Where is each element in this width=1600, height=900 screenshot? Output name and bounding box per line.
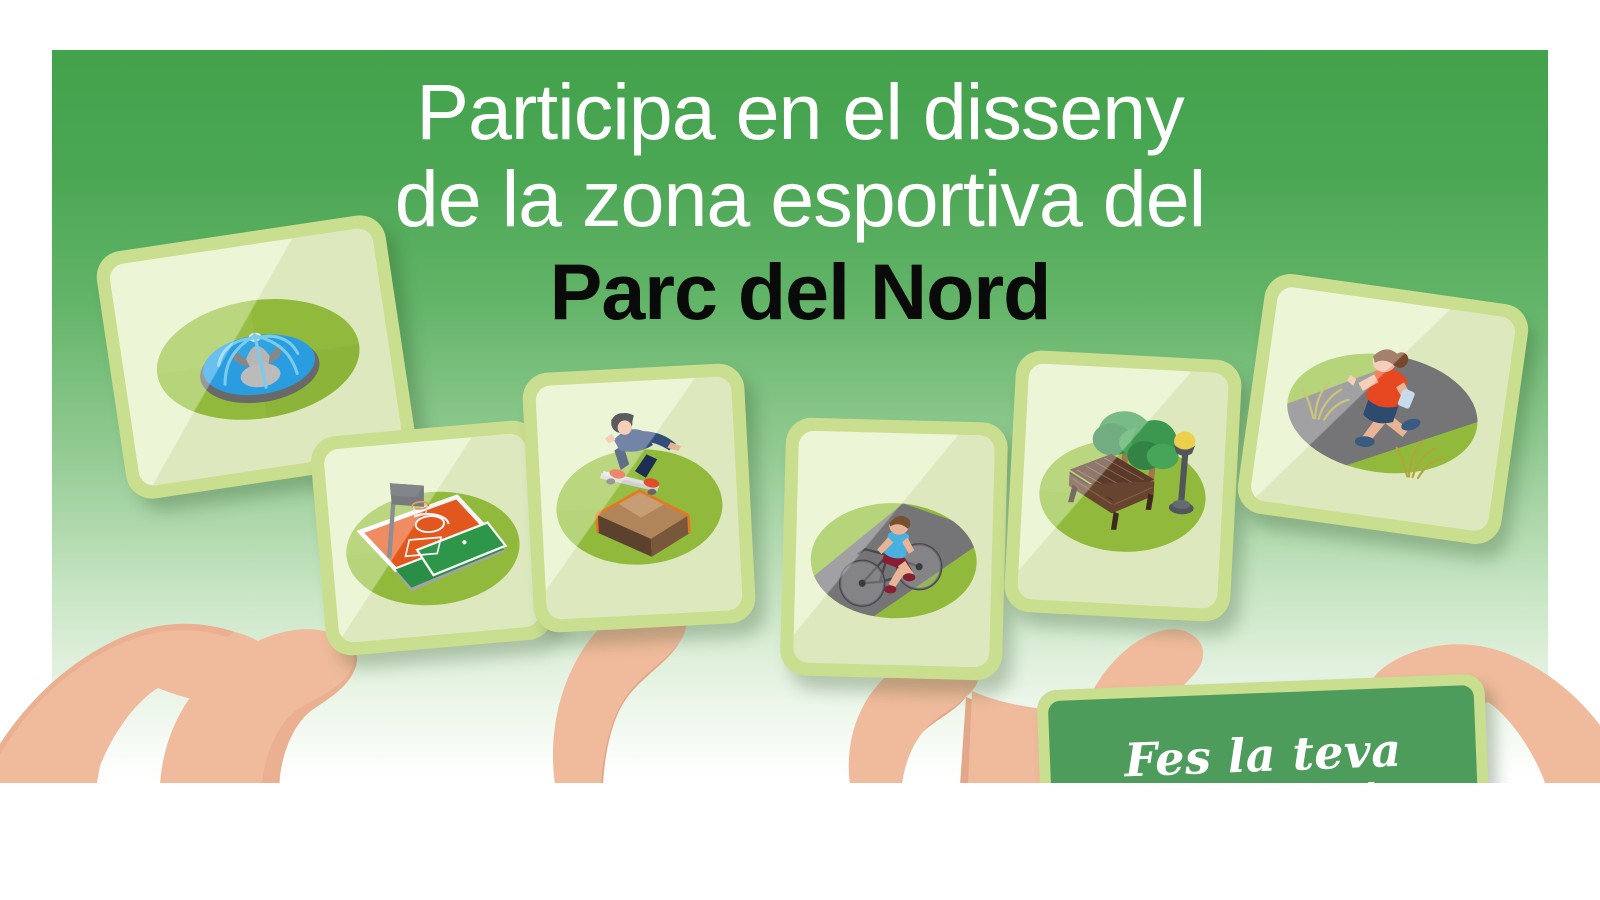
card-running[interactable] (1234, 271, 1531, 548)
cyclist-icon (793, 430, 995, 667)
sports-court-icon (323, 433, 541, 644)
park-bench-icon (1017, 363, 1229, 609)
card-court[interactable] (309, 418, 555, 657)
poster: Participa en el disseny de la zona espor… (0, 0, 1600, 900)
runner-icon (1249, 285, 1517, 532)
footer-bar (0, 783, 1600, 900)
card-bench[interactable] (1003, 349, 1242, 622)
card-bikepath[interactable] (780, 417, 1009, 681)
card-skatepark[interactable] (521, 362, 756, 633)
skateboard-ramp-icon (535, 376, 743, 620)
